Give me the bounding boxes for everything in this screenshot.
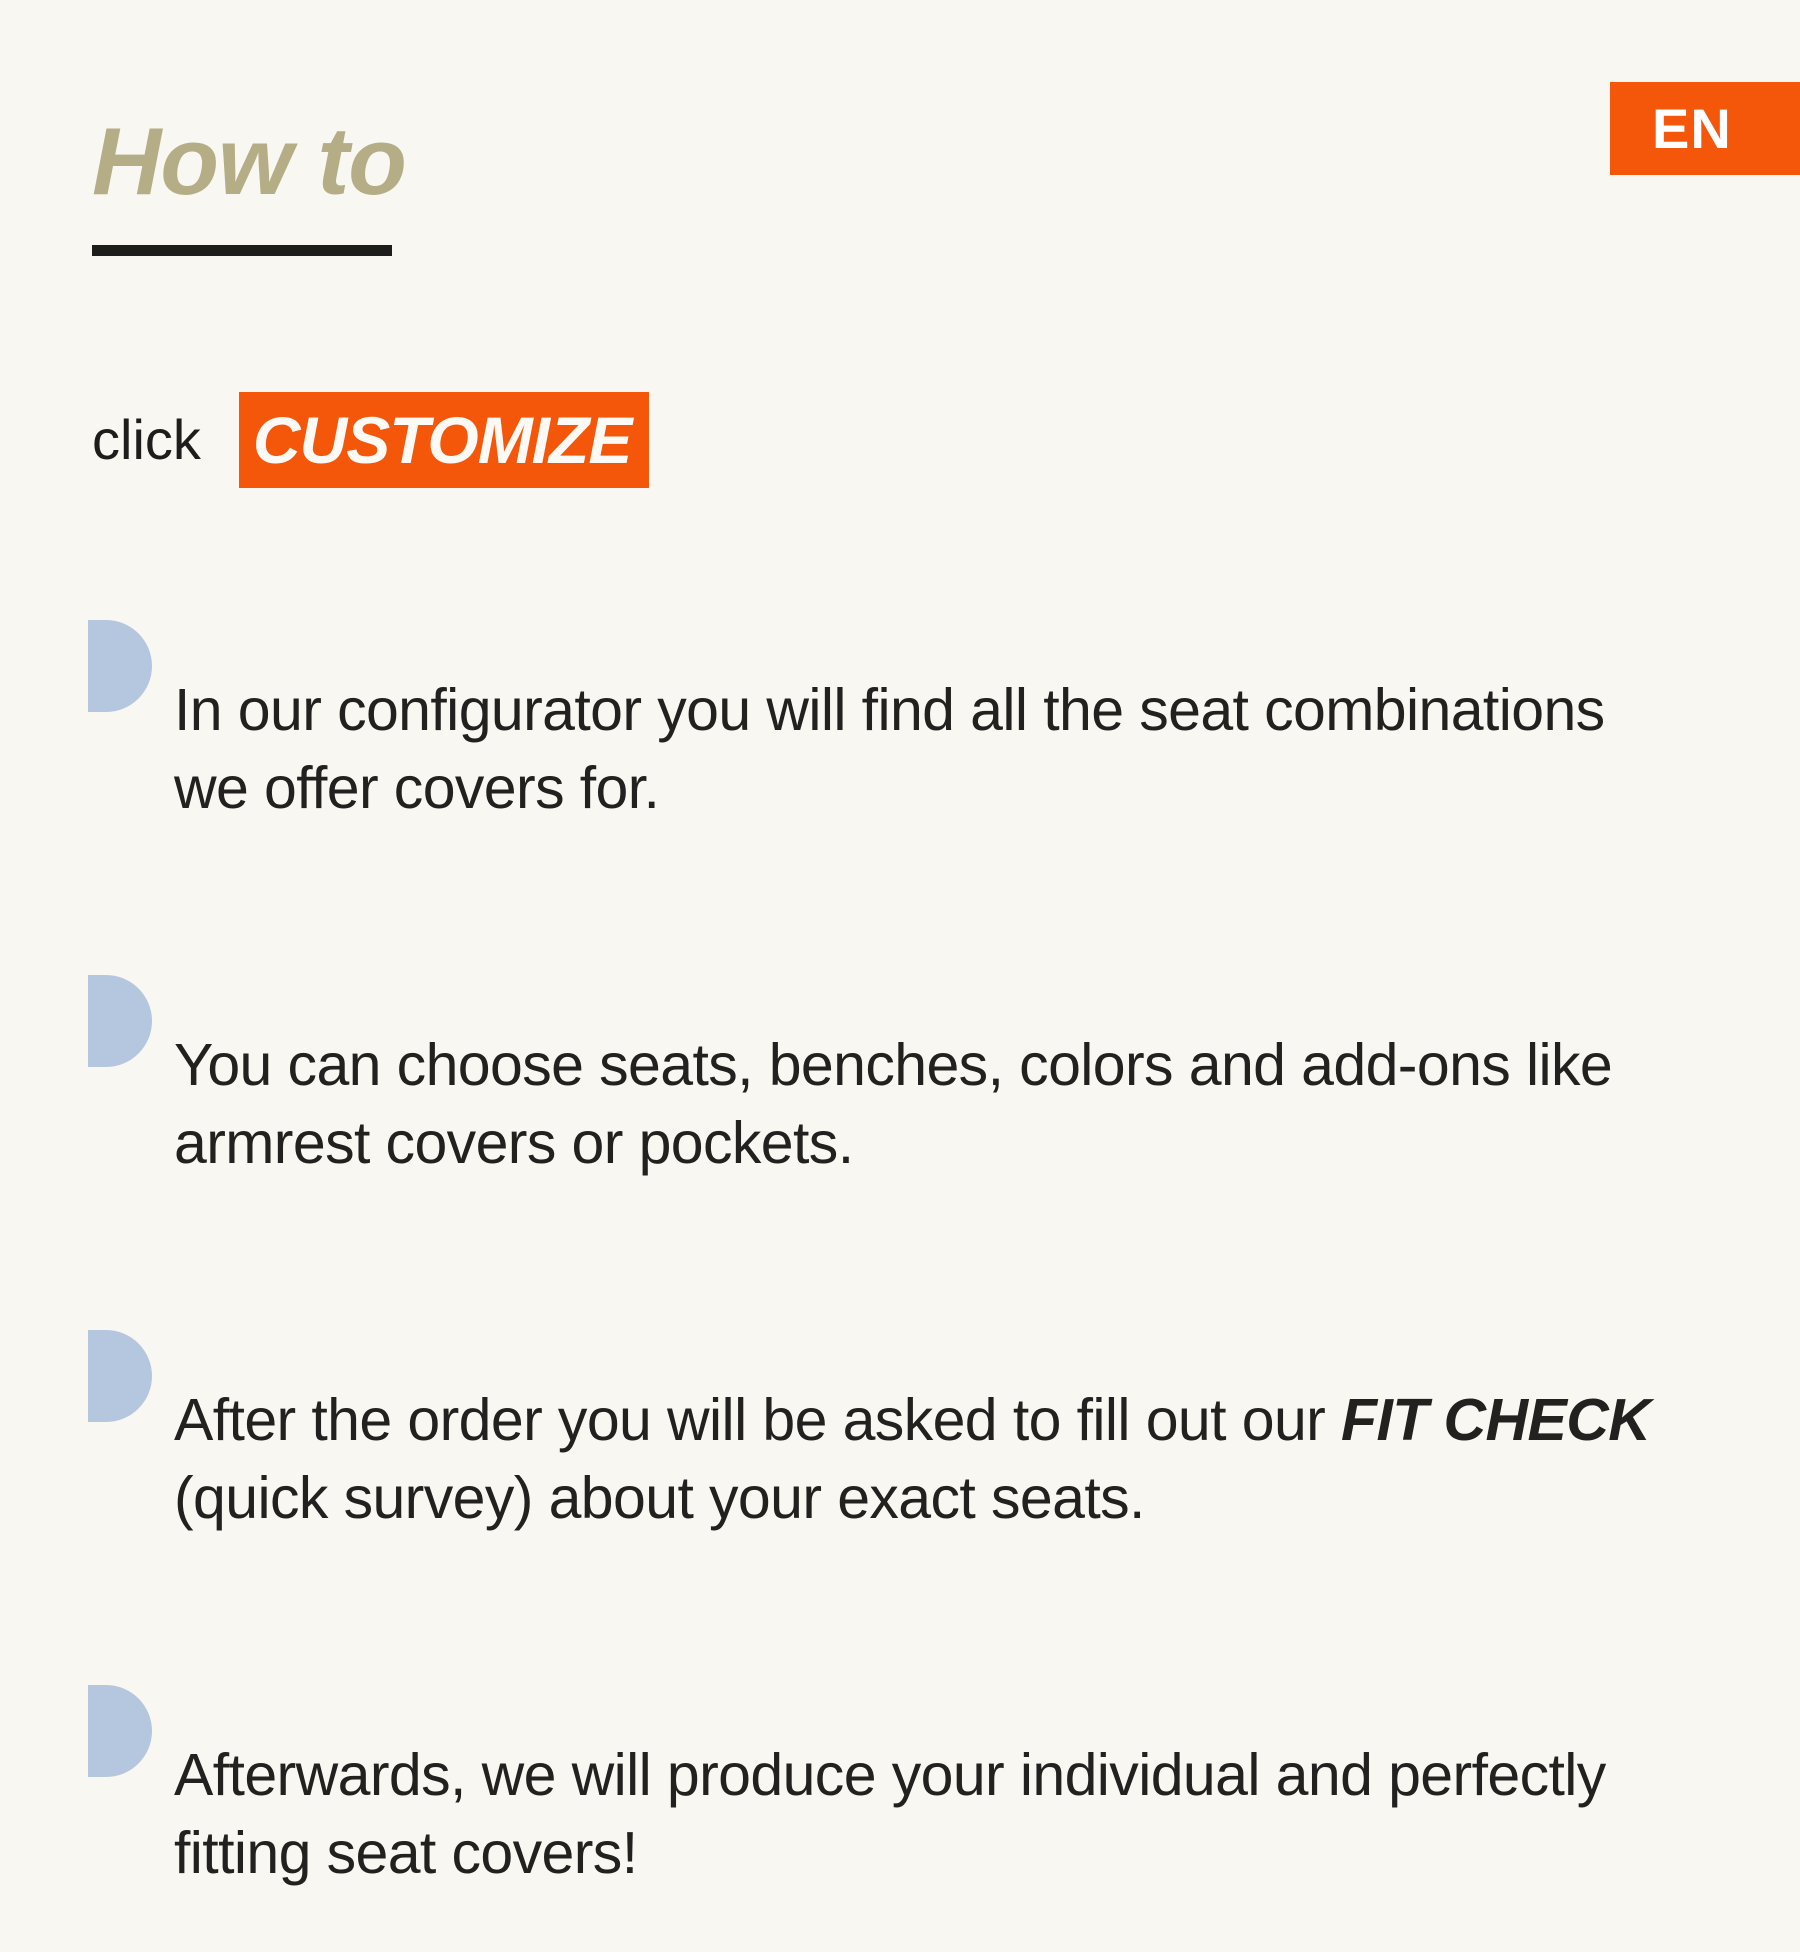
list-item-text: Afterwards, we will produce your individ…: [174, 1736, 1688, 1893]
cta-line: click CUSTOMIZE: [92, 390, 649, 490]
list-item-text-before: Afterwards, we will produce your individ…: [174, 1742, 1606, 1886]
list-item-text-before: You can choose seats, benches, colors an…: [174, 1032, 1612, 1176]
heading-block: How to: [92, 112, 406, 256]
customize-button[interactable]: CUSTOMIZE: [239, 392, 649, 488]
list-item-text: You can choose seats, benches, colors an…: [174, 1026, 1688, 1183]
list-item: After the order you will be asked to fil…: [88, 1322, 1688, 1597]
list-item-text-after: (quick survey) about your exact seats.: [174, 1465, 1145, 1531]
half-circle-bullet-icon: [88, 975, 152, 1067]
list-item-text: In our configurator you will find all th…: [174, 671, 1688, 828]
language-badge[interactable]: EN: [1610, 82, 1800, 175]
list-item-text-before: After the order you will be asked to fil…: [174, 1387, 1341, 1453]
cta-prefix-label: click: [92, 390, 201, 490]
how-to-infographic: { "colors": { "background": "#f9f7f2", "…: [0, 0, 1800, 1800]
list-item: You can choose seats, benches, colors an…: [88, 967, 1688, 1242]
title-underline-rule: [92, 245, 392, 256]
list-item: Afterwards, we will produce your individ…: [88, 1677, 1688, 1952]
language-badge-label: EN: [1652, 101, 1732, 157]
list-item-text-before: In our configurator you will find all th…: [174, 677, 1605, 821]
half-circle-bullet-icon: [88, 1330, 152, 1422]
list-item: In our configurator you will find all th…: [88, 612, 1688, 887]
half-circle-bullet-icon: [88, 620, 152, 712]
fit-check-emphasis: FIT CHECK: [1341, 1387, 1650, 1453]
half-circle-bullet-icon: [88, 1685, 152, 1777]
page-title: How to: [92, 112, 406, 213]
list-item-text: After the order you will be asked to fil…: [174, 1381, 1688, 1538]
steps-list: In our configurator you will find all th…: [88, 612, 1688, 1952]
